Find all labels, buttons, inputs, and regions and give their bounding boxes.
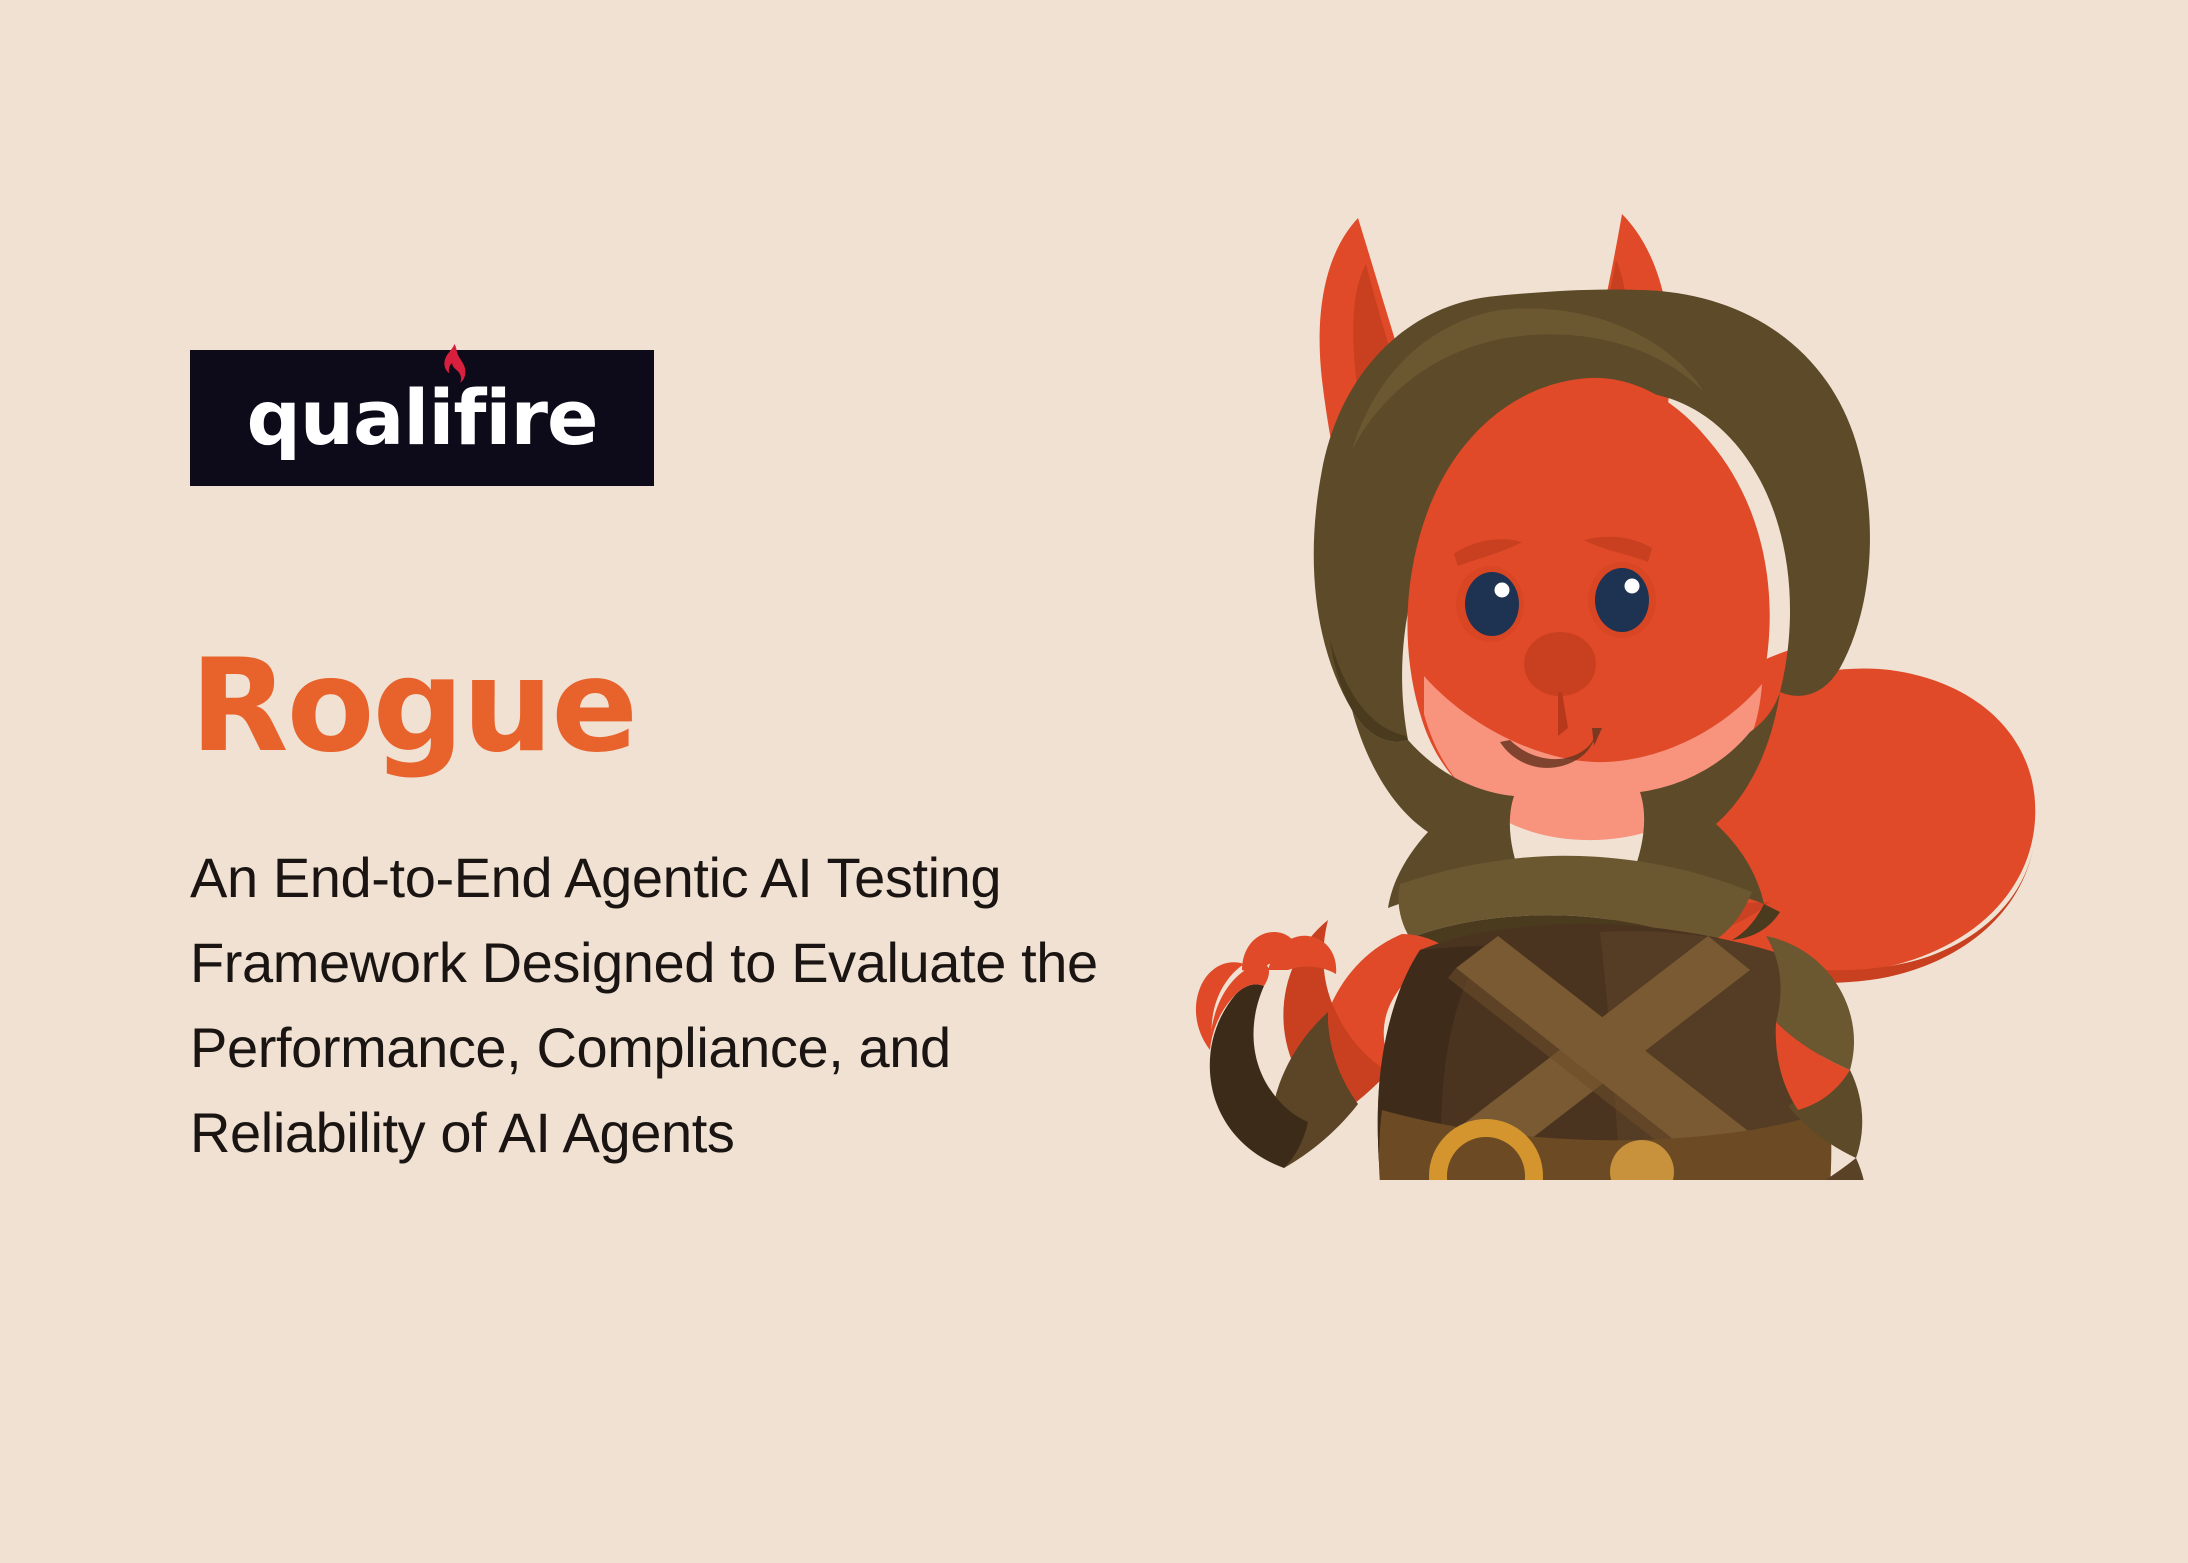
- page-title: Rogue: [190, 642, 1190, 773]
- fox-tunic: [1378, 924, 1832, 1180]
- qualifire-wordmark: qualifire: [246, 380, 597, 456]
- rogue-product-banner: qualifire Rogue An End-to-End Agentic AI…: [0, 0, 2188, 1563]
- fox-rogue-mascot: [1170, 180, 2110, 1180]
- fox-eye-left: [1465, 572, 1519, 636]
- content-column: qualifire Rogue An End-to-End Agentic AI…: [190, 350, 1190, 1175]
- page-subtitle: An End-to-End Agentic AI Testing Framewo…: [190, 835, 1110, 1175]
- fox-nose: [1524, 632, 1596, 696]
- qualifire-logo[interactable]: qualifire: [190, 350, 654, 486]
- flame-icon: [440, 344, 466, 384]
- fox-eye-right: [1595, 568, 1649, 632]
